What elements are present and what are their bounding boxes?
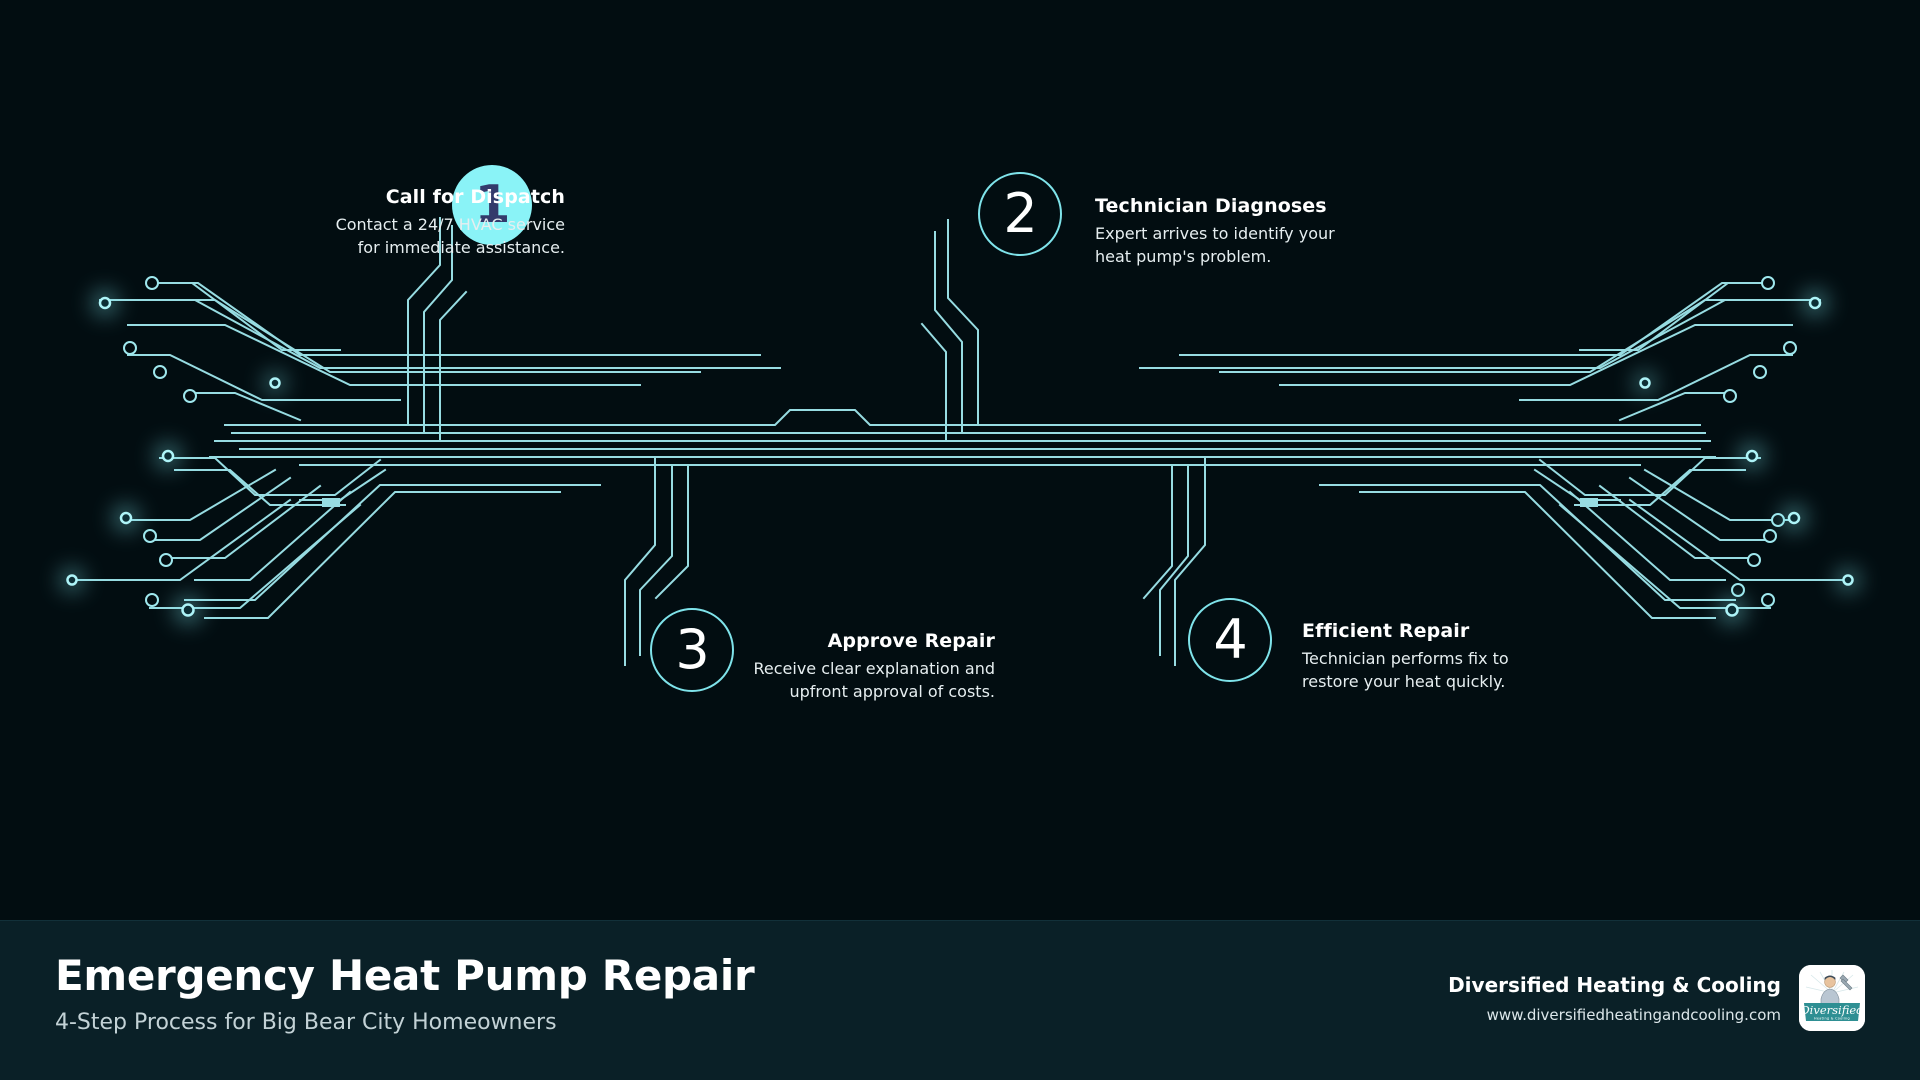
step-4-text: Efficient Repair Technician performs fix…: [1302, 620, 1582, 693]
brand-name: Diversified Heating & Cooling: [1448, 973, 1781, 997]
step-4-number: 4: [1213, 613, 1246, 667]
logo-wordmark: Diversified: [1799, 1003, 1863, 1017]
circuit-board-graphic: [0, 0, 1920, 920]
step-2-circle: 2: [978, 172, 1062, 256]
logo-tagline: Heating & Cooling: [1814, 1017, 1850, 1021]
step-1-description: Contact a 24/7 HVAC service for immediat…: [300, 214, 565, 259]
step-3-text: Approve Repair Receive clear explanation…: [700, 630, 995, 703]
step-4-title: Efficient Repair: [1302, 620, 1582, 642]
step-2-number: 2: [1003, 187, 1036, 241]
footer-bar: Emergency Heat Pump Repair 4-Step Proces…: [0, 920, 1920, 1080]
brand-website-url[interactable]: www.diversifiedheatingandcooling.com: [1448, 1006, 1781, 1024]
step-1-text: Call for Dispatch Contact a 24/7 HVAC se…: [300, 186, 565, 259]
step-4-description: Technician performs fix to restore your …: [1302, 648, 1582, 693]
step-2-text: Technician Diagnoses Expert arrives to i…: [1095, 195, 1375, 268]
page-subtitle: 4-Step Process for Big Bear City Homeown…: [55, 1011, 754, 1035]
logo-artwork: Diversified Heating & Cooling: [1799, 965, 1865, 1031]
step-3-description: Receive clear explanation and upfront ap…: [700, 658, 995, 703]
step-2-description: Expert arrives to identify your heat pum…: [1095, 223, 1375, 268]
infographic-canvas: 1 Call for Dispatch Contact a 24/7 HVAC …: [0, 0, 1920, 1080]
step-1-title: Call for Dispatch: [300, 186, 565, 208]
step-2-title: Technician Diagnoses: [1095, 195, 1375, 217]
step-4-circle: 4: [1188, 598, 1272, 682]
brand-block: Diversified Heating & Cooling www.divers…: [1448, 965, 1865, 1031]
step-3-title: Approve Repair: [700, 630, 995, 652]
page-title: Emergency Heat Pump Repair: [55, 953, 754, 999]
brand-text: Diversified Heating & Cooling www.divers…: [1448, 973, 1781, 1024]
footer-heading-block: Emergency Heat Pump Repair 4-Step Proces…: [55, 953, 754, 1035]
company-logo: Diversified Heating & Cooling: [1799, 965, 1865, 1031]
